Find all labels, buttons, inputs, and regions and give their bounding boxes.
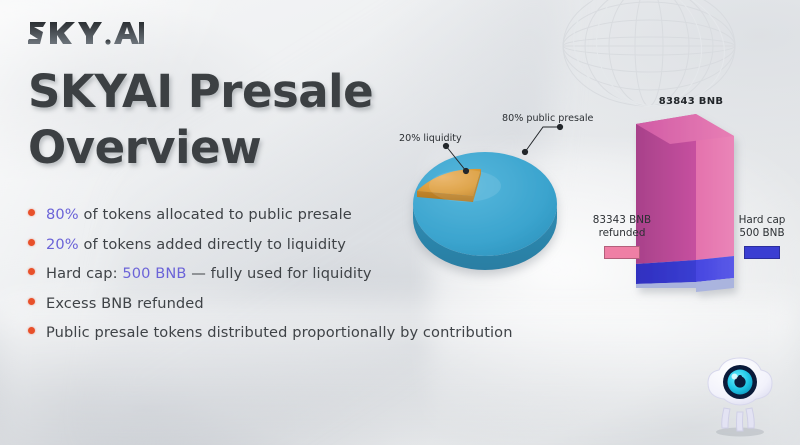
- list-item-text: 80% of tokens allocated to public presal…: [46, 206, 352, 224]
- bar-total-label: 83843 BNB: [636, 96, 746, 107]
- pie-label-presale: 80% public presale: [502, 113, 593, 124]
- accent-value: 500 BNB: [122, 265, 186, 282]
- brand-logo[interactable]: [28, 16, 144, 50]
- page-title: SKYAI Presale Overview: [28, 64, 458, 176]
- legend-refunded-label: refunded: [583, 227, 661, 240]
- pie-label-liquidity: 20% liquidity: [399, 133, 462, 144]
- legend-refunded: 83343 BNB refunded: [583, 214, 661, 259]
- list-item-text: Hard cap: 500 BNB — fully used for liqui…: [46, 265, 372, 283]
- list-item: Public presale tokens distributed propor…: [28, 324, 538, 342]
- presentation-slide: SKYAI Presale Overview 80% of tokens all…: [0, 0, 800, 445]
- bullet-dot-icon: [28, 327, 35, 334]
- bullet-dot-icon: [28, 209, 35, 216]
- list-item-text: 20% of tokens added directly to liquidit…: [46, 236, 346, 254]
- legend-refunded-value: 83343 BNB: [583, 214, 661, 227]
- legend-swatch-refunded: [604, 246, 640, 259]
- bullet-dot-icon: [28, 239, 35, 246]
- legend-hardcap: Hard cap 500 BNB: [727, 214, 797, 259]
- legend-hardcap-value: 500 BNB: [727, 227, 797, 240]
- legend-hardcap-label: Hard cap: [727, 214, 797, 227]
- list-item: Excess BNB refunded: [28, 295, 538, 313]
- list-item-rest: — fully used for liquidity: [187, 265, 372, 282]
- list-item-prefix: Hard cap:: [46, 265, 122, 282]
- accent-value: 80%: [46, 206, 79, 223]
- mascot-robot-icon: [697, 352, 783, 440]
- list-item-rest: of tokens allocated to public presale: [79, 206, 352, 223]
- accent-value: 20%: [46, 236, 79, 253]
- bullet-dot-icon: [28, 298, 35, 305]
- title-line-2: Overview: [28, 120, 458, 176]
- list-item-rest: of tokens added directly to liquidity: [79, 236, 346, 253]
- bullet-dot-icon: [28, 268, 35, 275]
- title-line-1: SKYAI Presale: [28, 65, 373, 118]
- legend-swatch-hardcap: [744, 246, 780, 259]
- list-item-text: Public presale tokens distributed propor…: [46, 324, 513, 342]
- list-item-text: Excess BNB refunded: [46, 295, 204, 313]
- bar-chart: [600, 92, 800, 292]
